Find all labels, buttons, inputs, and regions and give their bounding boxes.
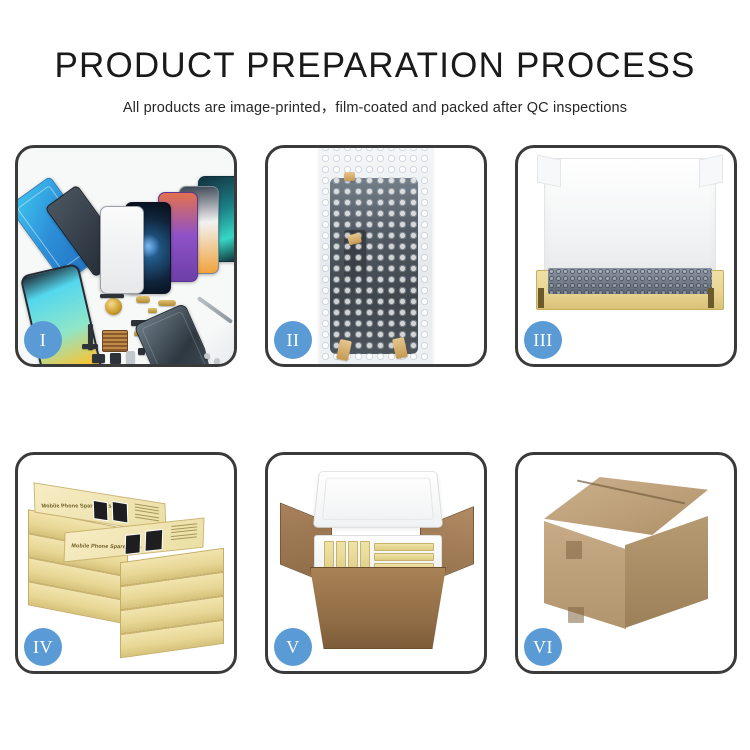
step-panel-6[interactable]: VI (515, 452, 737, 674)
step-badge-5: V (274, 628, 312, 666)
step-badge-3: III (524, 321, 562, 359)
page-title: PRODUCT PREPARATION PROCESS (0, 0, 750, 83)
step-panel-3[interactable]: III (515, 145, 737, 367)
page-subtitle: All products are image-printed，film-coat… (0, 83, 750, 117)
step-badge-2: II (274, 321, 312, 359)
step-panel-4[interactable]: Mobile Phone Spare Parts Mobile Phone Sp… (15, 452, 237, 674)
step-panel-2[interactable]: II (265, 145, 487, 367)
steps-grid: I II III (15, 145, 737, 685)
step-badge-6: VI (524, 628, 562, 666)
step-panel-5[interactable]: V (265, 452, 487, 674)
header: PRODUCT PREPARATION PROCESS All products… (0, 0, 750, 117)
product-preparation-infographic: PRODUCT PREPARATION PROCESS All products… (0, 0, 750, 750)
step-panel-1[interactable]: I (15, 145, 237, 367)
step-badge-4: IV (24, 628, 62, 666)
step-badge-1: I (24, 321, 62, 359)
